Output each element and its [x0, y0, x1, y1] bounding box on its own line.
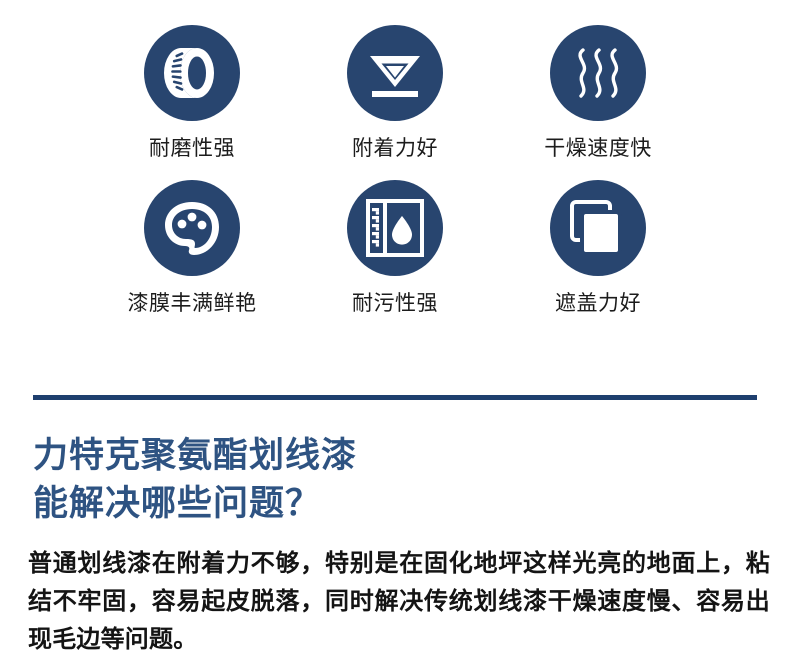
- funnel-adhesion-icon: [347, 25, 443, 121]
- feature-item-abrasion-resistance: 耐磨性强: [91, 25, 294, 159]
- section-heading: 力特克聚氨酯划线漆 能解决哪些问题？: [33, 432, 763, 528]
- feature-item-drying-speed: 干燥速度快: [497, 25, 700, 159]
- heading-line-2: 能解决哪些问题？: [33, 480, 763, 528]
- body-paragraph: 普通划线漆在附着力不够，特别是在固化地坪这样光亮的地面上，粘结不牢固，容易起皮脱…: [28, 545, 770, 659]
- layers-coverage-icon: [550, 180, 646, 276]
- stain-resistant-panel-icon: [347, 180, 443, 276]
- feature-item-adhesion: 附着力好: [294, 25, 497, 159]
- section-divider: [33, 395, 757, 400]
- feature-row-2: 漆膜丰满鲜艳: [0, 180, 790, 314]
- feature-label: 耐磨性强: [149, 138, 235, 159]
- feature-label: 附着力好: [352, 138, 438, 159]
- heading-line-1: 力特克聚氨酯划线漆: [33, 432, 763, 480]
- feature-item-stain-resistance: 耐污性强: [294, 180, 497, 314]
- product-feature-page: 耐磨性强 附着力好: [0, 0, 790, 668]
- heat-waves-icon: [550, 25, 646, 121]
- feature-label: 干燥速度快: [544, 138, 652, 159]
- feature-grid: 耐磨性强 附着力好: [0, 25, 790, 314]
- feature-label: 耐污性强: [352, 293, 438, 314]
- feature-item-coverage: 遮盖力好: [497, 180, 700, 314]
- tire-icon: [144, 25, 240, 121]
- feature-label: 漆膜丰满鲜艳: [128, 293, 257, 314]
- feature-item-film-richness: 漆膜丰满鲜艳: [91, 180, 294, 314]
- feature-label: 遮盖力好: [555, 293, 641, 314]
- paint-palette-icon: [144, 180, 240, 276]
- feature-row-1: 耐磨性强 附着力好: [0, 25, 790, 159]
